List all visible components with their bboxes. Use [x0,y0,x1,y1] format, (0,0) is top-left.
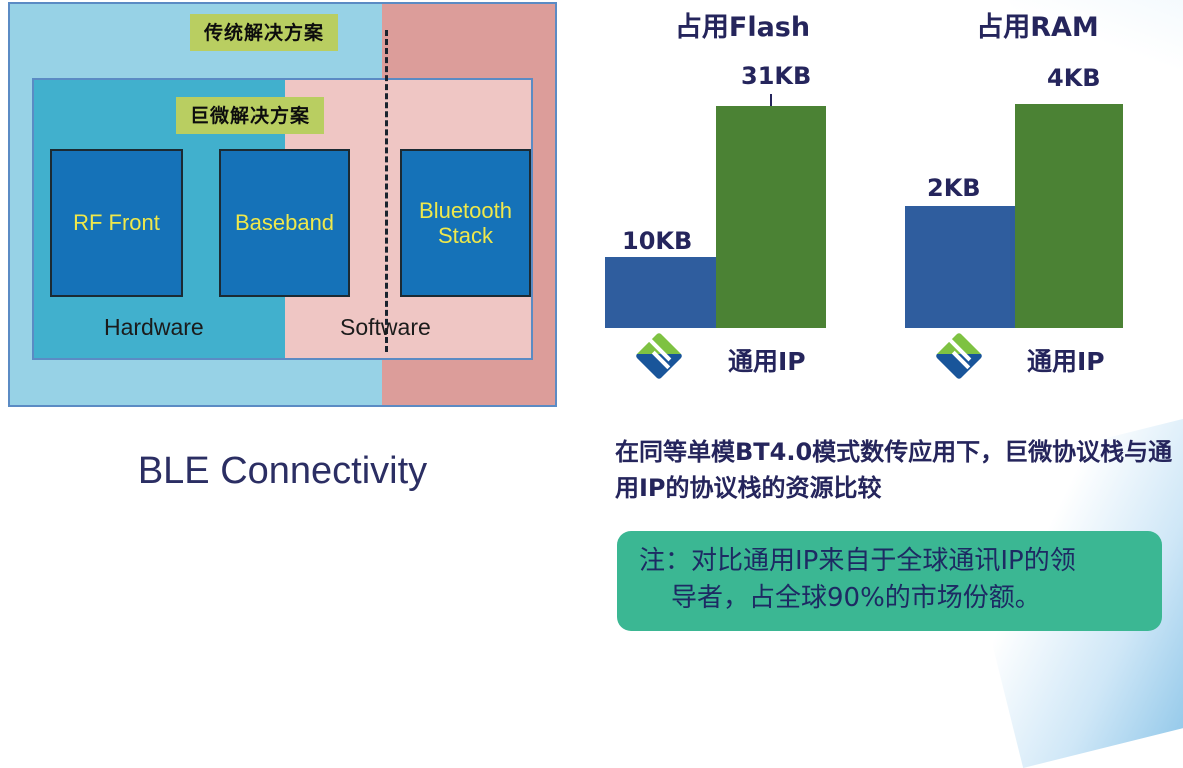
hardware-software-divider [385,30,388,352]
chart-ram: 占用RAM 2KB 4KB 通用IP [895,0,1180,400]
note-callout: 注：对比通用IP来自于全球通讯IP的领 导者，占全球90%的市场份额。 [617,531,1162,631]
resource-comparison-charts: 占用Flash 10KB 31KB 通用IP 占用RAM 2KB 4KB [600,0,1183,410]
bar-flash-generic [716,106,826,328]
note-text: 注：对比通用IP来自于全球通讯IP的领 导者，占全球90%的市场份额。 [639,543,1144,617]
chart-ram-generic-label: 通用IP [1027,342,1105,378]
block-baseband: Baseband [219,149,350,297]
chart-ram-plot: 2KB 4KB [895,50,1180,328]
zone-label-hardware: Hardware [104,314,204,341]
chart-flash: 占用Flash 10KB 31KB 通用IP [600,0,885,400]
tag-jumicro-solution: 巨微解决方案 [176,97,324,134]
tag-traditional-solution: 传统解决方案 [190,14,338,51]
jumicro-logo-icon [937,334,983,380]
charts-caption: 在同等单模BT4.0模式数传应用下，巨微协议栈与通用IP的协议栈的资源比较 [615,434,1177,506]
block-rf-front: RF Front [50,149,183,297]
block-bluetooth-stack: Bluetooth Stack [400,149,531,297]
zone-label-software: Software [340,314,431,341]
note-line-1: 注：对比通用IP来自于全球通讯IP的领 [639,546,1076,576]
chart-flash-axis-labels: 通用IP [600,330,885,390]
bar-ram-generic [1015,104,1123,328]
bar-flash-generic-value-tick [770,94,772,106]
bar-ram-generic-value: 4KB [1047,64,1101,92]
note-line-2: 导者，占全球90%的市场份额。 [639,580,1144,617]
chart-ram-title: 占用RAM [895,5,1180,44]
bar-ram-jumicro-value: 2KB [927,174,981,202]
bar-ram-jumicro [905,206,1015,328]
chart-flash-generic-label: 通用IP [728,342,806,378]
jumicro-logo-icon [637,334,683,380]
chart-ram-axis-labels: 通用IP [895,330,1180,390]
chart-flash-title: 占用Flash [600,5,885,44]
ble-architecture-diagram: 传统解决方案 巨微解决方案 RF Front Baseband Bluetoot… [8,2,557,407]
block-bluetooth-stack-label: Bluetooth Stack [419,198,512,249]
chart-flash-plot: 10KB 31KB [600,50,885,328]
bar-flash-generic-value: 31KB [741,62,811,90]
bar-flash-jumicro-value: 10KB [622,227,692,255]
bar-flash-jumicro [605,257,716,328]
ble-connectivity-title: BLE Connectivity [0,450,565,493]
